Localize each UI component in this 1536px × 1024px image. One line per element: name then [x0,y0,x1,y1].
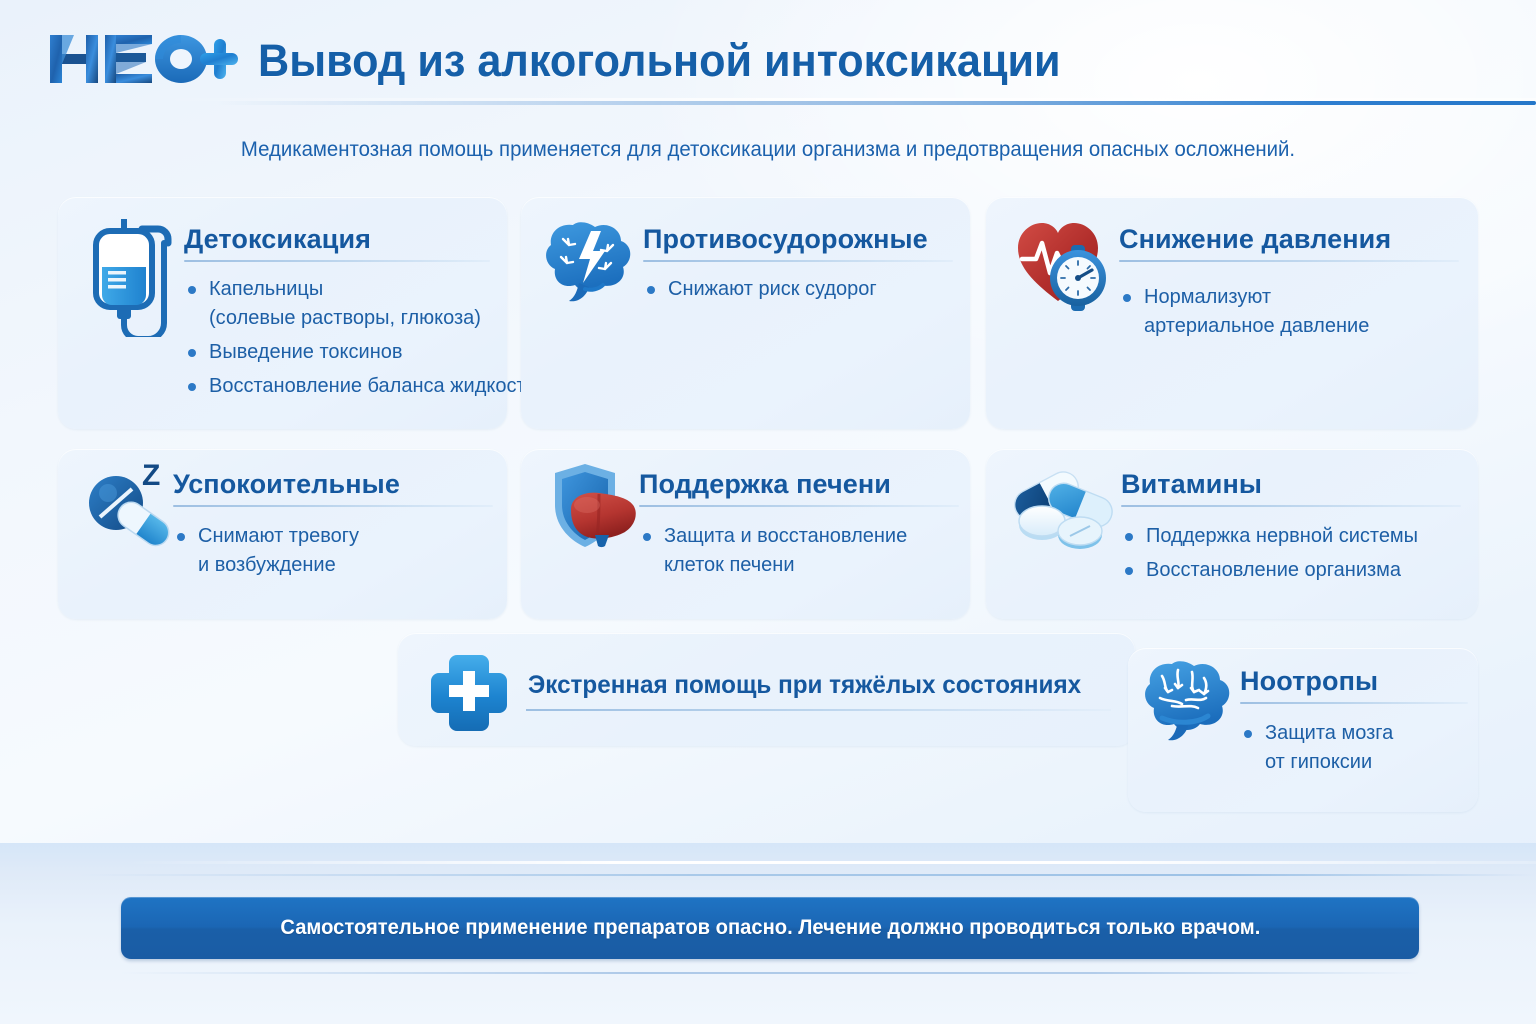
brain-lightning-icon [543,217,639,314]
header-divider [0,101,1536,105]
list-item: Защита и восстановление [639,523,959,550]
card-title-underline [1240,702,1468,704]
brain-nootropic-icon [1142,656,1238,753]
list-item: от гипоксии [1240,749,1468,776]
list-item: Восстановление баланса жидкости [184,373,490,400]
warning-text: Самостоятельное применение препаратов оп… [280,916,1260,940]
card-bullet-list: Снижают риск судорог [643,276,953,303]
card-title: Снижение давления [1119,222,1459,256]
card-bullet-list: Снимают тревогу и возбуждение [173,523,493,579]
sedative-pill-icon: Z [78,459,182,556]
card-title: Витамины [1121,467,1461,501]
card-bullet-list: Поддержка нервной системы Восстановление… [1121,523,1461,584]
list-item: Выведение токсинов [184,339,490,366]
list-item: клеток печени [639,552,959,579]
medical-cross-icon [428,651,510,736]
iv-drip-icon [84,217,188,342]
liver-shield-icon [541,461,647,566]
vitamin-pills-icon [1000,463,1120,560]
neo-plus-logo [48,31,238,85]
heart-pressure-icon [1014,215,1118,320]
footer-bottom-line [120,972,1420,974]
card-bullet-list: Нормализуют артериальное давление [1119,284,1459,340]
card-title: Противосудорожные [643,222,953,256]
card-title-underline [1121,505,1461,507]
card-liver-support: Поддержка печени Защита и восстановление… [521,449,970,619]
page-header: Вывод из алкогольной интоксикации [0,0,1536,112]
card-title: Детоксикация [184,222,490,256]
list-item: Нормализуют [1119,284,1459,311]
footer-accent-line [0,874,1536,876]
list-item: Защита мозга [1240,720,1468,747]
emergency-label: Экстренная помощь при тяжёлых состояниях [528,671,1081,700]
emergency-underline [526,709,1111,711]
list-item: Снижают риск судорог [643,276,953,303]
card-anticonvulsants: Противосудорожные Снижают риск судорог [521,197,970,429]
footer-highlight-line [0,861,1536,864]
card-title-underline [643,260,953,262]
list-item: Капельницы [184,276,490,303]
card-vitamins: Витамины Поддержка нервной системы Восст… [986,449,1478,619]
list-item: артериальное давление [1119,313,1459,340]
card-title-underline [184,260,490,262]
card-nootropics: Ноотропы Защита мозга от гипоксии [1128,648,1478,812]
card-title: Поддержка печени [639,467,959,501]
list-item: Поддержка нервной системы [1121,523,1461,550]
list-item: (солевые растворы, глюкоза) [184,305,490,332]
card-bullet-list: Защита мозга от гипоксии [1240,720,1468,776]
page-subtitle: Медикаментозная помощь применяется для д… [23,136,1513,164]
card-title-underline [639,505,959,507]
page-title: Вывод из алкогольной интоксикации [258,36,1061,86]
card-bullet-list: Защита и восстановление клеток печени [639,523,959,579]
card-title-underline [173,505,493,507]
card-title: Успокоительные [173,467,493,501]
card-title: Ноотропы [1240,664,1468,698]
card-blood-pressure: Снижение давления Нормализуют артериальн… [986,197,1478,429]
svg-text:Z: Z [142,459,160,492]
list-item: Восстановление организма [1121,557,1461,584]
warning-banner: Самостоятельное применение препаратов оп… [121,897,1419,959]
list-item: Снимают тревогу [173,523,493,550]
card-sedatives: Z Успокоительные Снимают тревогу и возбу… [58,449,507,619]
emergency-banner: Экстренная помощь при тяжёлых состояниях [398,633,1135,746]
card-bullet-list: Капельницы (солевые растворы, глюкоза) В… [184,276,490,400]
list-item: и возбуждение [173,552,493,579]
card-detoxification: Детоксикация Капельницы (солевые раствор… [58,197,507,429]
card-title-underline [1119,260,1459,262]
